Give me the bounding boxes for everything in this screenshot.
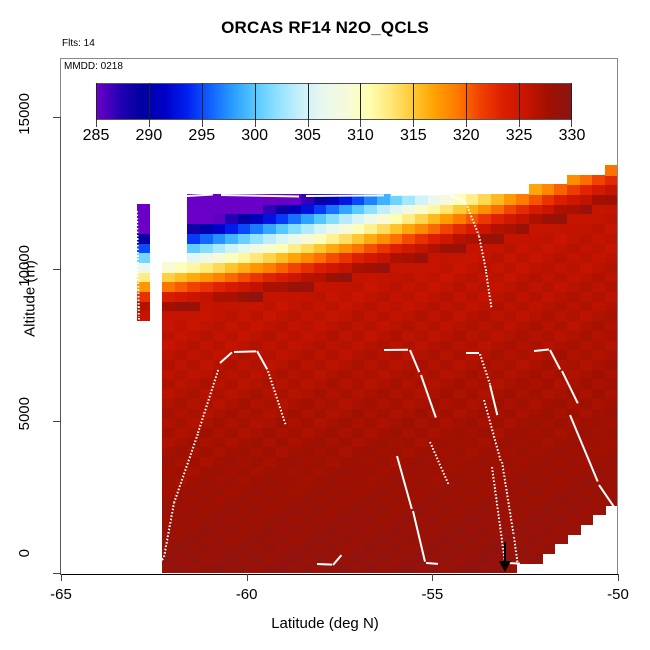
heatmap-cell: [504, 359, 518, 370]
heatmap-cell: [250, 417, 264, 428]
colorbar-tick: [360, 83, 361, 120]
heatmap-cell: [364, 446, 378, 457]
heatmap-cell: [175, 553, 189, 564]
heatmap-cell: [352, 388, 366, 399]
heatmap-cell: [440, 223, 454, 234]
heatmap-cell: [428, 252, 442, 263]
heatmap-cell: [326, 446, 340, 457]
heatmap-cell: [288, 408, 302, 419]
heatmap-cell: [605, 359, 617, 370]
heatmap-cell: [263, 398, 277, 409]
heatmap-cell: [162, 330, 176, 341]
heatmap-cell: [580, 340, 594, 351]
heatmap-cell: [301, 485, 315, 496]
heatmap-cell: [504, 243, 518, 254]
heatmap-cell: [440, 446, 454, 457]
heatmap-cell: [554, 514, 568, 525]
heatmap-cell: [605, 369, 617, 380]
heatmap-cell: [175, 398, 189, 409]
heatmap-cell: [592, 272, 606, 283]
heatmap-cell: [516, 214, 530, 225]
y-tick: [53, 573, 61, 574]
heatmap-cell: [339, 223, 353, 234]
heatmap-cell: [288, 340, 302, 351]
heatmap-cell: [592, 301, 606, 312]
heatmap-cell: [187, 272, 201, 283]
heatmap-cell: [288, 379, 302, 390]
heatmap-cell: [301, 446, 315, 457]
heatmap-cell: [390, 330, 404, 341]
heatmap-cell: [326, 543, 340, 554]
heatmap-cell: [301, 281, 315, 292]
heatmap-cell: [415, 476, 429, 487]
heatmap-cell: [592, 495, 606, 506]
heatmap-cell: [339, 291, 353, 302]
heatmap-cell: [314, 204, 328, 215]
heatmap-cell: [516, 340, 530, 351]
heatmap-cell: [276, 320, 290, 331]
heatmap-cell: [605, 233, 617, 244]
heatmap-cell: [238, 262, 252, 273]
heatmap-cell: [605, 446, 617, 457]
heatmap-cell: [592, 349, 606, 360]
heatmap-cell: [605, 437, 617, 448]
heatmap-cell: [225, 505, 239, 516]
heatmap-cell: [250, 204, 264, 215]
heatmap-cell: [580, 427, 594, 438]
heatmap-cell: [352, 543, 366, 554]
heatmap-cell: [326, 262, 340, 273]
heatmap-cell: [466, 485, 480, 496]
heatmap-cell: [567, 262, 581, 273]
heatmap-cell: [567, 514, 581, 525]
heatmap-cell: [390, 320, 404, 331]
heatmap-cell: [175, 301, 189, 312]
heatmap-cell: [288, 476, 302, 487]
heatmap-cell: [225, 272, 239, 283]
heatmap-cell: [428, 495, 442, 506]
heatmap-cell: [187, 543, 201, 554]
heatmap-cell: [250, 495, 264, 506]
heatmap-cell: [478, 340, 492, 351]
heatmap-cell: [390, 495, 404, 506]
heatmap-cell: [352, 262, 366, 273]
heatmap-cell: [580, 175, 594, 186]
heatmap-cell: [554, 466, 568, 477]
heatmap-cell: [200, 505, 214, 516]
heatmap-cell: [225, 476, 239, 487]
heatmap-cell: [580, 476, 594, 487]
heatmap-cell: [175, 359, 189, 370]
heatmap-cell: [162, 466, 176, 477]
heatmap-cell: [288, 349, 302, 360]
heatmap-cell: [137, 233, 151, 244]
heatmap-cell: [466, 495, 480, 506]
heatmap-cell: [200, 281, 214, 292]
heatmap-cell: [364, 214, 378, 225]
heatmap-cell: [225, 485, 239, 496]
heatmap-cell: [288, 456, 302, 467]
heatmap-cell: [529, 466, 543, 477]
flight-count-label: Flts: 14: [62, 38, 95, 49]
heatmap-cell: [542, 437, 556, 448]
heatmap-cell: [364, 388, 378, 399]
heatmap-cell: [390, 359, 404, 370]
heatmap-cell: [592, 243, 606, 254]
heatmap-cell: [250, 563, 264, 574]
heatmap-cell: [592, 417, 606, 428]
heatmap-cell: [567, 204, 581, 215]
heatmap-cell: [263, 563, 277, 574]
heatmap-cell: [339, 272, 353, 283]
heatmap-cell: [137, 204, 151, 215]
heatmap-cell: [326, 388, 340, 399]
heatmap-cell: [390, 233, 404, 244]
heatmap-cell: [529, 476, 543, 487]
heatmap-cell: [175, 379, 189, 390]
heatmap-cell: [250, 330, 264, 341]
heatmap-cell: [402, 291, 416, 302]
heatmap-cell: [288, 446, 302, 457]
heatmap-cell: [314, 233, 328, 244]
heatmap-cell: [390, 543, 404, 554]
heatmap-cell: [225, 311, 239, 322]
heatmap-cell: [213, 543, 227, 554]
heatmap-cell: [440, 437, 454, 448]
heatmap-cell: [605, 165, 617, 176]
heatmap-cell: [326, 359, 340, 370]
heatmap-cell: [339, 505, 353, 516]
flight-track-segment: [384, 348, 408, 350]
heatmap-cell: [440, 553, 454, 564]
heatmap-cell: [466, 417, 480, 428]
heatmap-cell: [263, 524, 277, 535]
heatmap-cell: [491, 417, 505, 428]
heatmap-cell: [364, 495, 378, 506]
heatmap-cell: [580, 330, 594, 341]
heatmap-cell: [415, 398, 429, 409]
heatmap-cell: [200, 359, 214, 370]
heatmap-cell: [225, 553, 239, 564]
heatmap-cell: [276, 311, 290, 322]
heatmap-cell: [580, 408, 594, 419]
heatmap-cell: [580, 243, 594, 254]
heatmap-cell: [466, 252, 480, 263]
heatmap-cell: [288, 437, 302, 448]
heatmap-cell: [326, 466, 340, 477]
heatmap-cell: [440, 349, 454, 360]
heatmap-cell: [580, 320, 594, 331]
heatmap-cell: [466, 427, 480, 438]
heatmap-cell: [314, 437, 328, 448]
colorbar-tick: [466, 83, 467, 120]
heatmap-cell: [288, 252, 302, 263]
heatmap-cell: [263, 204, 277, 215]
heatmap-cell: [250, 427, 264, 438]
heatmap-cell: [491, 223, 505, 234]
heatmap-cell: [263, 252, 277, 263]
heatmap-cell: [326, 398, 340, 409]
heatmap-cell: [402, 379, 416, 390]
heatmap-cell: [453, 330, 467, 341]
heatmap-cell: [390, 534, 404, 545]
heatmap-cell: [554, 456, 568, 467]
heatmap-cell: [213, 534, 227, 545]
heatmap-cell: [491, 281, 505, 292]
heatmap-cell: [440, 301, 454, 312]
heatmap-cell: [428, 262, 442, 273]
heatmap-cell: [187, 495, 201, 506]
heatmap-cell: [453, 563, 467, 574]
heatmap-cell: [542, 408, 556, 419]
heatmap-cell: [466, 466, 480, 477]
heatmap-cell: [352, 379, 366, 390]
heatmap-cell: [428, 272, 442, 283]
heatmap-cell: [390, 417, 404, 428]
heatmap-cell: [504, 301, 518, 312]
heatmap-cell: [605, 184, 617, 195]
heatmap-cell: [339, 417, 353, 428]
heatmap-cell: [301, 301, 315, 312]
heatmap-cell: [580, 369, 594, 380]
x-tick: [432, 574, 433, 581]
heatmap-cell: [504, 456, 518, 467]
heatmap-cell: [200, 437, 214, 448]
x-axis-title: Latitude (deg N): [0, 615, 650, 632]
heatmap-cell: [402, 534, 416, 545]
heatmap-cell: [605, 272, 617, 283]
heatmap-cell: [364, 427, 378, 438]
heatmap-cell: [592, 262, 606, 273]
heatmap-cell: [428, 340, 442, 351]
heatmap-cell: [339, 204, 353, 215]
heatmap-cell: [542, 330, 556, 341]
heatmap-cell: [592, 330, 606, 341]
heatmap-cell: [238, 330, 252, 341]
heatmap-cell: [580, 214, 594, 225]
heatmap-cell: [428, 379, 442, 390]
heatmap-cell: [250, 553, 264, 564]
heatmap-cell: [263, 311, 277, 322]
heatmap-cell: [592, 388, 606, 399]
heatmap-cell: [415, 408, 429, 419]
x-tick: [618, 574, 619, 581]
heatmap-cell: [301, 524, 315, 535]
heatmap-cell: [263, 214, 277, 225]
heatmap-cell: [542, 291, 556, 302]
heatmap-cell: [491, 194, 505, 205]
heatmap-cell: [263, 330, 277, 341]
heatmap-cell: [428, 233, 442, 244]
heatmap-cell: [314, 466, 328, 477]
heatmap-cell: [592, 233, 606, 244]
heatmap-cell: [390, 204, 404, 215]
heatmap-cell: [453, 262, 467, 273]
heatmap-cell: [478, 563, 492, 574]
heatmap-cell: [390, 291, 404, 302]
heatmap-cell: [288, 320, 302, 331]
heatmap-cell: [263, 437, 277, 448]
heatmap-cell: [415, 252, 429, 263]
heatmap-cell: [554, 446, 568, 457]
heatmap-cell: [339, 320, 353, 331]
heatmap-cell: [466, 272, 480, 283]
heatmap-cell: [592, 175, 606, 186]
heatmap-cell: [542, 388, 556, 399]
heatmap-cell: [504, 379, 518, 390]
heatmap-cell: [377, 252, 391, 263]
heatmap-cell: [352, 456, 366, 467]
heatmap-cell: [529, 291, 543, 302]
x-tick: [247, 574, 248, 581]
heatmap-cell: [542, 281, 556, 292]
heatmap-cell: [478, 456, 492, 467]
heatmap-cell: [352, 369, 366, 380]
flight-track-segment: [137, 561, 156, 565]
heatmap-cell: [276, 514, 290, 525]
heatmap-cell: [478, 446, 492, 457]
heatmap-cell: [580, 359, 594, 370]
heatmap-cell: [377, 262, 391, 273]
heatmap-cell: [187, 534, 201, 545]
colorbar-tick: [96, 83, 97, 120]
heatmap-cell: [415, 349, 429, 360]
heatmap-cell: [238, 553, 252, 564]
heatmap-cell: [491, 291, 505, 302]
heatmap-cell: [276, 204, 290, 215]
heatmap-cell: [225, 204, 239, 215]
heatmap-cell: [200, 214, 214, 225]
heatmap-cell: [200, 446, 214, 457]
heatmap-cell: [440, 408, 454, 419]
heatmap-cell: [491, 262, 505, 273]
heatmap-cell: [542, 495, 556, 506]
heatmap-cell: [592, 408, 606, 419]
heatmap-cell: [326, 534, 340, 545]
heatmap-cell: [402, 301, 416, 312]
heatmap-cell: [326, 495, 340, 506]
heatmap-cell: [516, 252, 530, 263]
heatmap-cell: [314, 369, 328, 380]
heatmap-cell: [440, 534, 454, 545]
heatmap-cell: [567, 223, 581, 234]
heatmap-cell: [466, 311, 480, 322]
heatmap-cell: [605, 398, 617, 409]
heatmap-cell: [238, 252, 252, 263]
heatmap-cell: [466, 301, 480, 312]
heatmap-cell: [440, 359, 454, 370]
heatmap-cell: [402, 524, 416, 535]
heatmap-cell: [516, 330, 530, 341]
heatmap-cell: [339, 563, 353, 574]
heatmap-cell: [504, 388, 518, 399]
heatmap-cell: [453, 495, 467, 506]
heatmap-cell: [466, 514, 480, 525]
heatmap-cell: [250, 272, 264, 283]
heatmap-cell: [238, 214, 252, 225]
heatmap-cell: [377, 437, 391, 448]
heatmap-cell: [162, 476, 176, 487]
heatmap-cell: [339, 388, 353, 399]
heatmap-cell: [478, 194, 492, 205]
heatmap-cell: [453, 524, 467, 535]
heatmap-cell: [301, 204, 315, 215]
heatmap-cell: [580, 223, 594, 234]
heatmap-cell: [339, 301, 353, 312]
heatmap-cell: [554, 437, 568, 448]
heatmap-cell: [326, 456, 340, 467]
heatmap-cell: [187, 301, 201, 312]
heatmap-cell: [276, 214, 290, 225]
heatmap-cell: [276, 252, 290, 263]
heatmap-cell: [542, 243, 556, 254]
heatmap-cell: [238, 476, 252, 487]
flight-track-segment: [234, 350, 256, 353]
heatmap-cell: [554, 233, 568, 244]
heatmap-cell: [554, 505, 568, 516]
heatmap-cell: [390, 379, 404, 390]
heatmap-cell: [276, 262, 290, 273]
heatmap-cell: [364, 553, 378, 564]
heatmap-cell: [314, 543, 328, 554]
heatmap-cell: [428, 291, 442, 302]
heatmap-cell: [364, 301, 378, 312]
heatmap-cell: [250, 262, 264, 273]
heatmap-cell: [415, 223, 429, 234]
heatmap-cell: [592, 359, 606, 370]
colorbar[interactable]: 285290295300305310315320325330: [96, 83, 572, 120]
heatmap-cell: [187, 311, 201, 322]
heatmap-cell: [504, 281, 518, 292]
heatmap-cell: [339, 214, 353, 225]
heatmap-cell: [390, 553, 404, 564]
heatmap-cell: [301, 534, 315, 545]
heatmap-cell: [529, 252, 543, 263]
heatmap-cell: [162, 446, 176, 457]
heatmap-cell: [453, 369, 467, 380]
heatmap-cell: [377, 320, 391, 331]
heatmap-cell: [529, 379, 543, 390]
heatmap-cell: [453, 320, 467, 331]
heatmap-cell: [415, 456, 429, 467]
heatmap-cell: [440, 495, 454, 506]
heatmap-cell: [554, 320, 568, 331]
heatmap-cell: [466, 437, 480, 448]
heatmap-cell: [263, 223, 277, 234]
heatmap-cell: [567, 340, 581, 351]
heatmap-cell: [339, 466, 353, 477]
heatmap-cell: [516, 408, 530, 419]
colorbar-tick-label: 295: [188, 127, 215, 145]
heatmap-cell: [428, 417, 442, 428]
heatmap-cell: [580, 233, 594, 244]
heatmap-cell: [554, 311, 568, 322]
heatmap-cell: [478, 553, 492, 564]
heatmap-cell: [200, 291, 214, 302]
heatmap-cell: [453, 233, 467, 244]
heatmap-cell: [175, 272, 189, 283]
heatmap-cell: [415, 437, 429, 448]
heatmap-cell: [213, 495, 227, 506]
heatmap-cell: [529, 330, 543, 341]
heatmap-cell: [187, 369, 201, 380]
heatmap-cell: [225, 243, 239, 254]
heatmap-cell: [314, 359, 328, 370]
heatmap-cell: [542, 485, 556, 496]
heatmap-cell: [415, 214, 429, 225]
heatmap-cell: [301, 495, 315, 506]
heatmap-cell: [326, 291, 340, 302]
